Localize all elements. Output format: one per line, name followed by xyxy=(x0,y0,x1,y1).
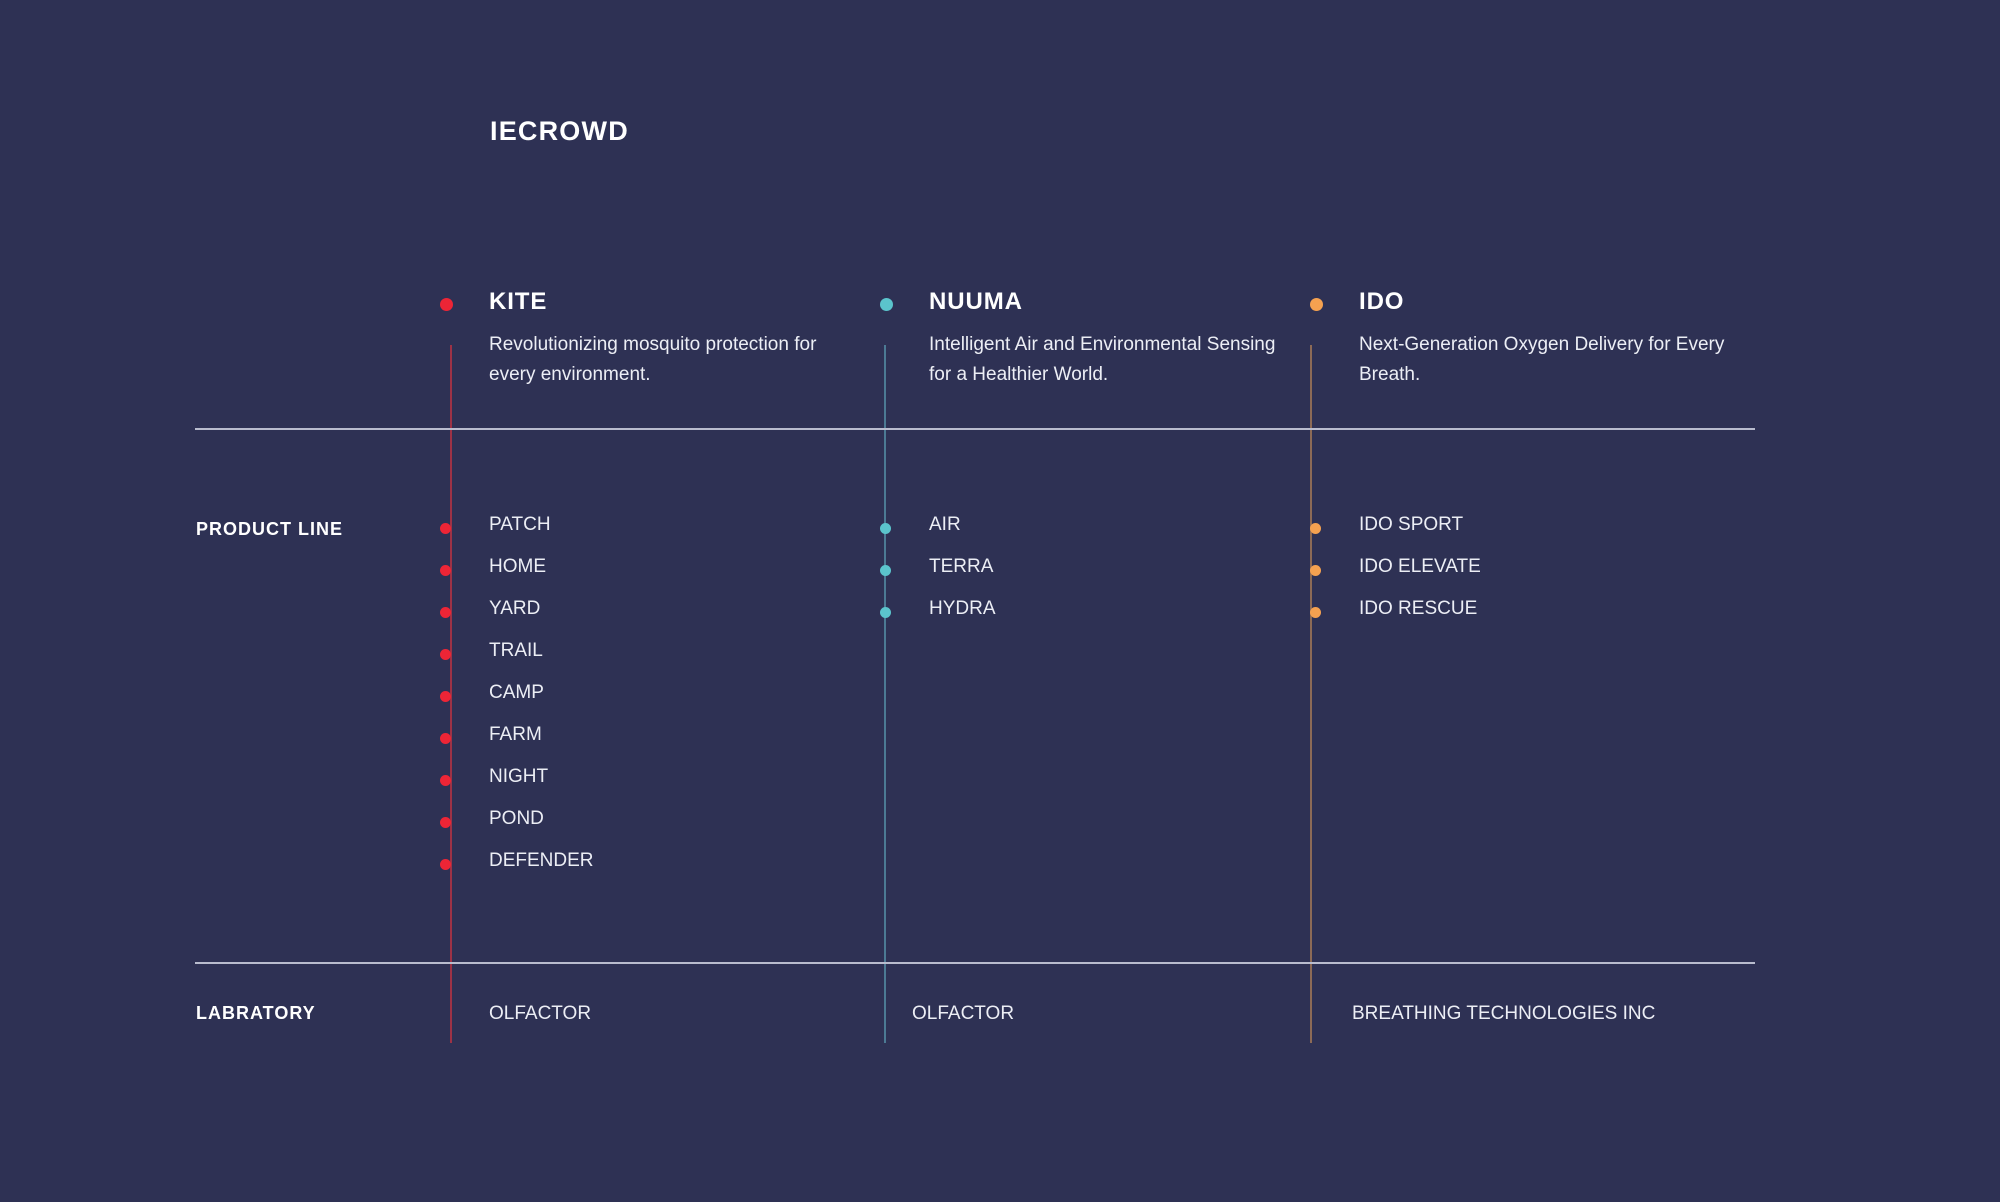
product-name: NIGHT xyxy=(489,766,548,788)
bullet-dot-icon xyxy=(440,298,453,311)
product-list-item[interactable]: HOME xyxy=(440,556,860,598)
product-list-item[interactable]: PATCH xyxy=(440,514,860,556)
brand-description: Revolutionizing mosquito protection for … xyxy=(489,330,861,390)
product-list-kite: PATCHHOMEYARDTRAILCAMPFARMNIGHTPONDDEFEN… xyxy=(440,514,860,892)
laboratory-value-ido: BREATHING TECHNOLOGIES INC xyxy=(1352,1003,1655,1025)
row-label-product-line: PRODUCT LINE xyxy=(196,519,343,540)
product-list-item[interactable]: POND xyxy=(440,808,860,850)
product-name: TERRA xyxy=(929,556,993,578)
laboratory-value-nuuma: OLFACTOR xyxy=(912,1003,1014,1025)
bullet-dot-icon xyxy=(1310,298,1323,311)
bullet-dot-icon xyxy=(880,523,891,534)
bullet-dot-icon xyxy=(440,649,451,660)
product-list-nuuma: AIRTERRAHYDRA xyxy=(880,514,1300,640)
product-list-item[interactable]: FARM xyxy=(440,724,860,766)
bullet-dot-icon xyxy=(440,733,451,744)
product-name: PATCH xyxy=(489,514,551,536)
brand-name: IDO xyxy=(1359,288,1404,316)
product-list-item[interactable]: AIR xyxy=(880,514,1300,556)
bullet-dot-icon xyxy=(440,691,451,702)
product-name: YARD xyxy=(489,598,540,620)
product-name: IDO RESCUE xyxy=(1359,598,1477,620)
product-name: IDO ELEVATE xyxy=(1359,556,1481,578)
bullet-dot-icon xyxy=(880,565,891,576)
product-name: CAMP xyxy=(489,682,544,704)
product-list-item[interactable]: TERRA xyxy=(880,556,1300,598)
brand-name: NUUMA xyxy=(929,288,1023,316)
laboratory-value-kite: OLFACTOR xyxy=(489,1003,591,1025)
product-matrix: KITE Revolutionizing mosquito protection… xyxy=(0,0,2000,1202)
product-name: DEFENDER xyxy=(489,850,594,872)
bullet-dot-icon xyxy=(440,775,451,786)
bullet-dot-icon xyxy=(440,607,451,618)
row-label-laboratory: LABRATORY xyxy=(196,1003,316,1024)
bullet-dot-icon xyxy=(880,298,893,311)
product-list-item[interactable]: HYDRA xyxy=(880,598,1300,640)
brand-rail-nuuma xyxy=(884,345,886,1043)
bullet-dot-icon xyxy=(880,607,891,618)
bullet-dot-icon xyxy=(440,817,451,828)
product-list-item[interactable]: CAMP xyxy=(440,682,860,724)
bullet-dot-icon xyxy=(440,565,451,576)
product-list-item[interactable]: IDO RESCUE xyxy=(1310,598,1730,640)
brand-description: Next-Generation Oxygen Delivery for Ever… xyxy=(1359,330,1731,390)
product-name: TRAIL xyxy=(489,640,543,662)
divider-top xyxy=(195,428,1755,430)
product-name: HYDRA xyxy=(929,598,996,620)
divider-bottom xyxy=(195,962,1755,964)
product-list-item[interactable]: IDO ELEVATE xyxy=(1310,556,1730,598)
product-list-item[interactable]: IDO SPORT xyxy=(1310,514,1730,556)
brand-rail-ido xyxy=(1310,345,1312,1043)
product-list-ido: IDO SPORTIDO ELEVATEIDO RESCUE xyxy=(1310,514,1730,640)
bullet-dot-icon xyxy=(1310,565,1321,576)
brand-description: Intelligent Air and Environmental Sensin… xyxy=(929,330,1301,390)
product-list-item[interactable]: NIGHT xyxy=(440,766,860,808)
bullet-dot-icon xyxy=(440,859,451,870)
bullet-dot-icon xyxy=(1310,607,1321,618)
product-name: POND xyxy=(489,808,544,830)
product-name: IDO SPORT xyxy=(1359,514,1463,536)
bullet-dot-icon xyxy=(440,523,451,534)
product-name: HOME xyxy=(489,556,546,578)
product-name: FARM xyxy=(489,724,542,746)
brand-name: KITE xyxy=(489,288,547,316)
product-list-item[interactable]: TRAIL xyxy=(440,640,860,682)
product-list-item[interactable]: DEFENDER xyxy=(440,850,860,892)
product-list-item[interactable]: YARD xyxy=(440,598,860,640)
product-name: AIR xyxy=(929,514,961,536)
bullet-dot-icon xyxy=(1310,523,1321,534)
